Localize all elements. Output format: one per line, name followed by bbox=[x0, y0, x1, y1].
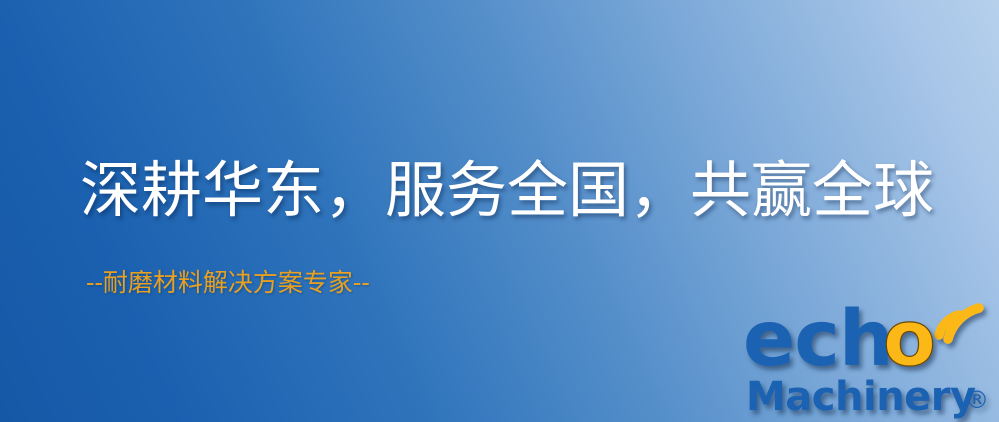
logo-tagline: Machinery bbox=[746, 374, 976, 420]
promotional-banner: 深耕华东，服务全国，共赢全球 --耐磨材料解决方案专家-- ech o Mach… bbox=[0, 0, 999, 422]
echo-machinery-logo[interactable]: ech o Machinery ® bbox=[743, 292, 999, 422]
logo-trademark-symbol: ® bbox=[965, 386, 989, 414]
signal-arcs-icon bbox=[939, 308, 979, 339]
logo-wordmark-o: o bbox=[883, 295, 935, 384]
banner-subtitle: --耐磨材料解决方案专家-- bbox=[86, 266, 370, 300]
banner-headline: 深耕华东，服务全国，共赢全球 bbox=[80, 152, 934, 230]
logo-wordmark-prefix: ech bbox=[743, 295, 893, 384]
